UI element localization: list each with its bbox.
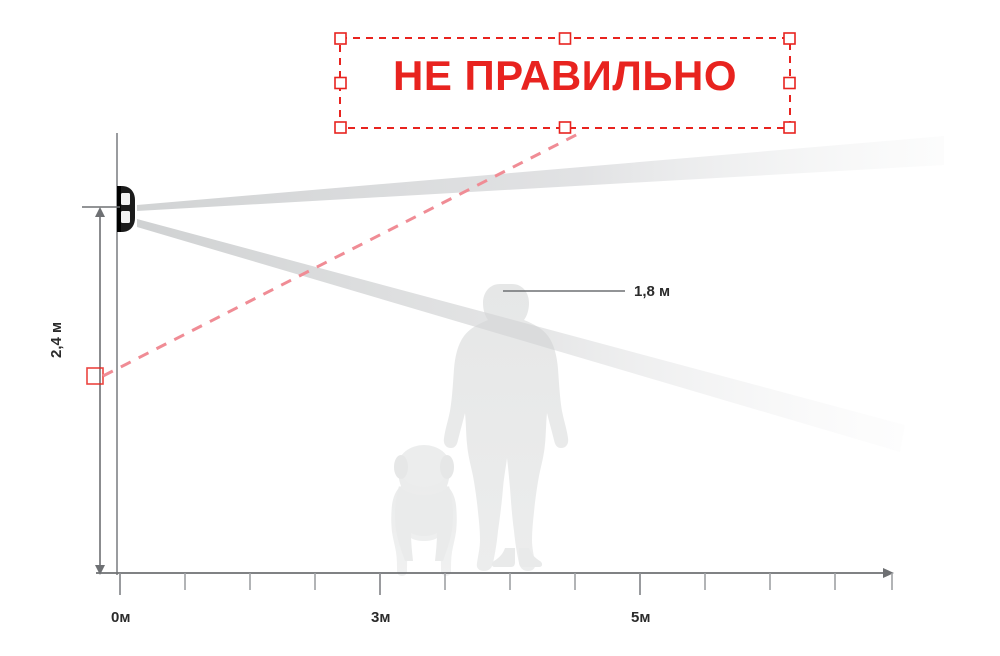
distance-axis-ticks <box>120 573 892 595</box>
motion-sensor-device <box>117 186 135 232</box>
diagram-canvas: НЕ ПРАВИЛЬНО 2,4 м 1,8 м 0м 3м 5м <box>0 0 1000 656</box>
selection-handle-middle-right <box>784 78 795 89</box>
mount-height-dimension <box>82 207 120 575</box>
selection-handle-top-center <box>560 33 571 44</box>
x-axis-label-3m: 3м <box>371 609 390 626</box>
selection-handle-bottom-right <box>784 122 795 133</box>
x-axis-label-5m: 5м <box>631 609 650 626</box>
dog-silhouette <box>391 445 457 576</box>
selection-handle-middle-left <box>335 78 346 89</box>
x-axis-label-0m: 0м <box>111 609 130 626</box>
mount-height-label: 2,4 м <box>48 322 65 358</box>
selection-handle-top-right <box>784 33 795 44</box>
upper-detection-beam <box>137 136 944 211</box>
selection-handle-top-left <box>335 33 346 44</box>
distance-axis-line <box>96 568 894 578</box>
person-height-label: 1,8 м <box>634 283 670 300</box>
warning-title: НЕ ПРАВИЛЬНО <box>350 52 780 100</box>
selection-handle-bottom-center <box>560 122 571 133</box>
selection-handle-bottom-left <box>335 122 346 133</box>
